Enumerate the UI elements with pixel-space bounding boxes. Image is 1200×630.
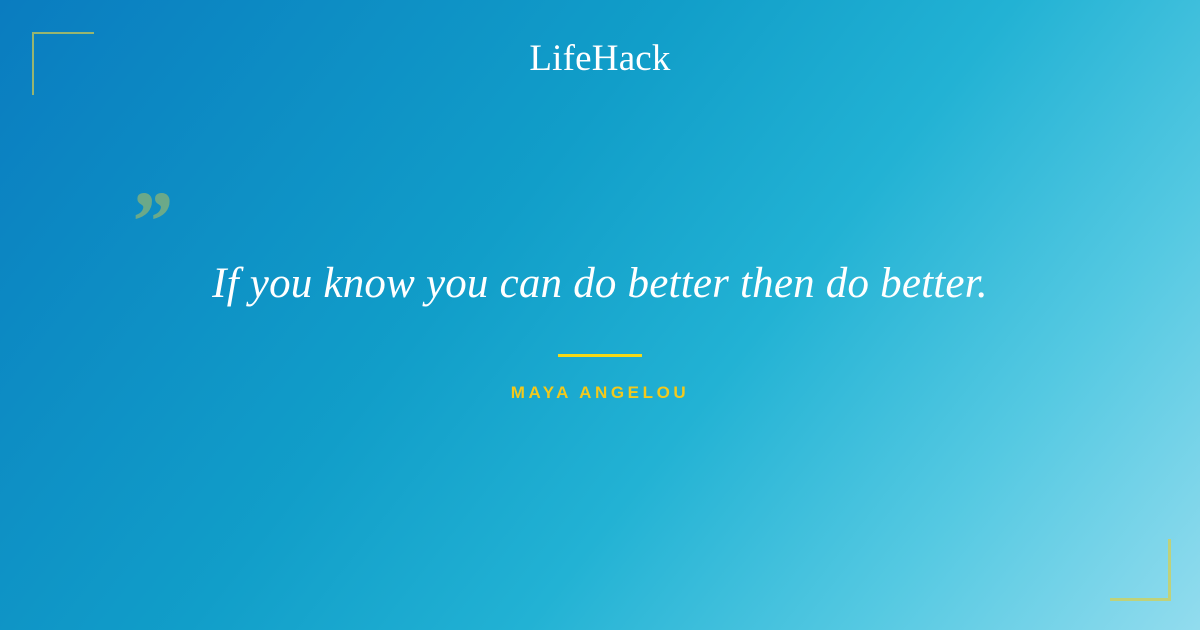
brand-header: LifeHack	[0, 40, 1200, 77]
quote-block: If you know you can do better then do be…	[0, 258, 1200, 403]
corner-bracket-bottom-right	[1110, 539, 1171, 601]
quote-card: LifeHack ” If you know you can do better…	[0, 0, 1200, 630]
quotation-mark-icon: ”	[128, 178, 171, 264]
quote-text: If you know you can do better then do be…	[90, 258, 1110, 310]
brand-logo: LifeHack	[529, 40, 670, 77]
quote-author: MAYA ANGELOU	[0, 383, 1200, 403]
quote-divider	[558, 354, 642, 357]
